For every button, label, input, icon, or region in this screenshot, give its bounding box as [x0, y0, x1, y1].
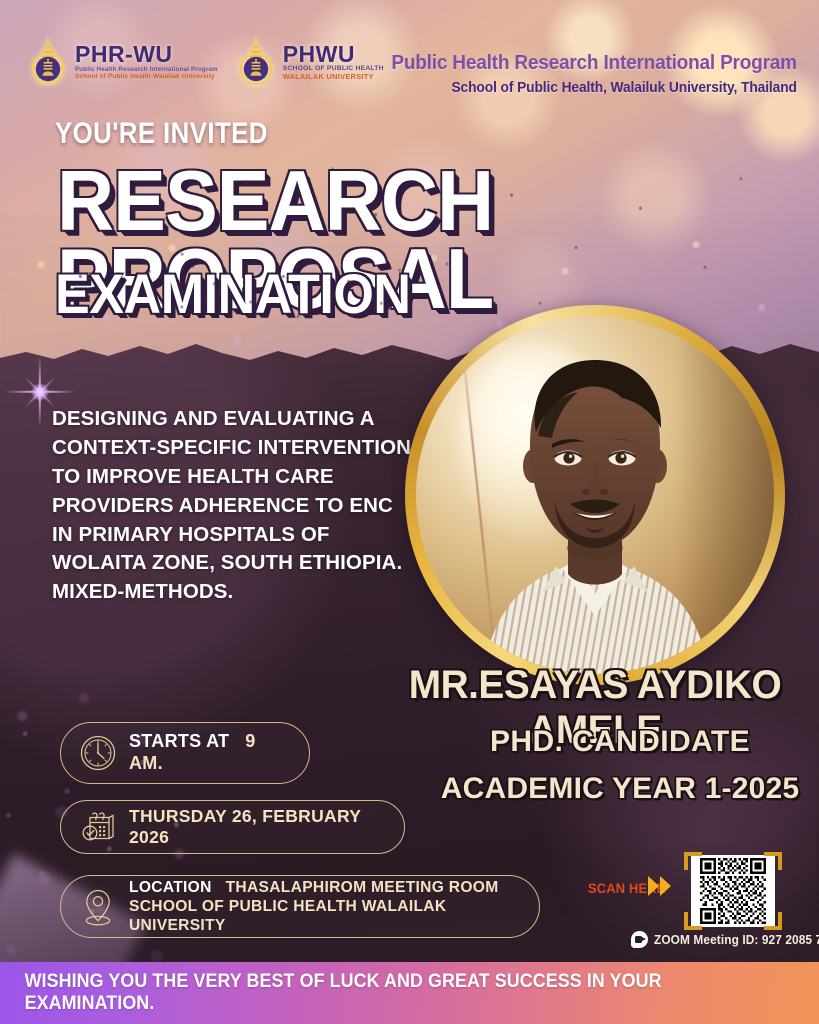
logo-phwu: PHWU SCHOOL OF PUBLIC HEALTH WALAILAK UN…	[234, 36, 384, 88]
research-title: DESIGNING AND EVALUATING A CONTEXT-SPECI…	[52, 405, 412, 607]
zoom-meeting-info: ZOOM Meeting ID: 927 2085 7909	[631, 931, 819, 948]
person-figure	[416, 316, 774, 674]
portrait-image	[416, 316, 774, 674]
calendar-check-icon	[79, 809, 117, 845]
qr-corner-tr	[764, 852, 782, 870]
invited-label: YOU'RE INVITED	[55, 117, 268, 151]
footer-banner: WISHING YOU THE VERY BEST OF LUCK AND GR…	[0, 962, 819, 1024]
location-pill: LOCATION THASALAPHIROM MEETING ROOM SCHO…	[60, 875, 540, 938]
logo-acronym: PHR-WU	[75, 43, 218, 66]
presenter-role: PHD. CANDIDATE	[430, 725, 810, 759]
qr-code[interactable]	[684, 852, 782, 930]
logo-phr-wu: PHR-WU Public Health Research Internatio…	[26, 36, 218, 88]
logo-group: PHR-WU Public Health Research Internatio…	[26, 36, 384, 88]
program-header: Public Health Research International Pro…	[370, 52, 797, 96]
thai-crest-icon	[26, 36, 70, 88]
qr-corner-tl	[684, 852, 702, 870]
qr-corner-br	[764, 912, 782, 930]
zoom-meeting-id: ZOOM Meeting ID: 927 2085 7909	[654, 933, 819, 947]
date-pill: THURSDAY 26, FEBRUARY 2026	[60, 800, 405, 854]
location-line2: SCHOOL OF PUBLIC HEALTH WALAILAK UNIVERS…	[129, 898, 446, 934]
logo-subtitle-2: WALAILAK UNIVERSITY	[283, 73, 384, 80]
time-label: STARTS AT	[129, 731, 229, 751]
time-text: STARTS AT 9 AM.	[129, 731, 291, 775]
poster-canvas: PHR-WU Public Health Research Internatio…	[0, 0, 819, 1024]
thai-crest-icon	[234, 36, 278, 88]
program-title: Public Health Research International Pro…	[391, 52, 797, 75]
program-subtitle: School of Public Health, Walailuk Univer…	[391, 80, 797, 96]
footer-message: WISHING YOU THE VERY BEST OF LUCK AND GR…	[25, 971, 795, 1015]
presenter-academic-year: ACADEMIC YEAR 1-2025	[430, 772, 810, 806]
clock-icon	[79, 734, 117, 772]
double-chevron-right-icon	[648, 876, 671, 896]
zoom-video-icon	[631, 931, 648, 948]
poster-title-line2: EXAMINATION	[55, 267, 411, 320]
presenter-portrait	[405, 305, 785, 685]
location-text: LOCATION THASALAPHIROM MEETING ROOM SCHO…	[129, 878, 521, 935]
logo-subtitle-2: School of Public Health Walailak Univers…	[75, 74, 218, 81]
qr-code-image[interactable]	[691, 855, 775, 927]
map-pin-icon	[79, 886, 117, 928]
location-line1: THASALAPHIROM MEETING ROOM	[226, 879, 499, 896]
date-text: THURSDAY 26, FEBRUARY 2026	[129, 806, 386, 849]
qr-corner-bl	[684, 912, 702, 930]
logo-acronym: PHWU	[283, 43, 384, 66]
location-label: LOCATION	[129, 879, 212, 896]
time-pill: STARTS AT 9 AM.	[60, 722, 310, 784]
